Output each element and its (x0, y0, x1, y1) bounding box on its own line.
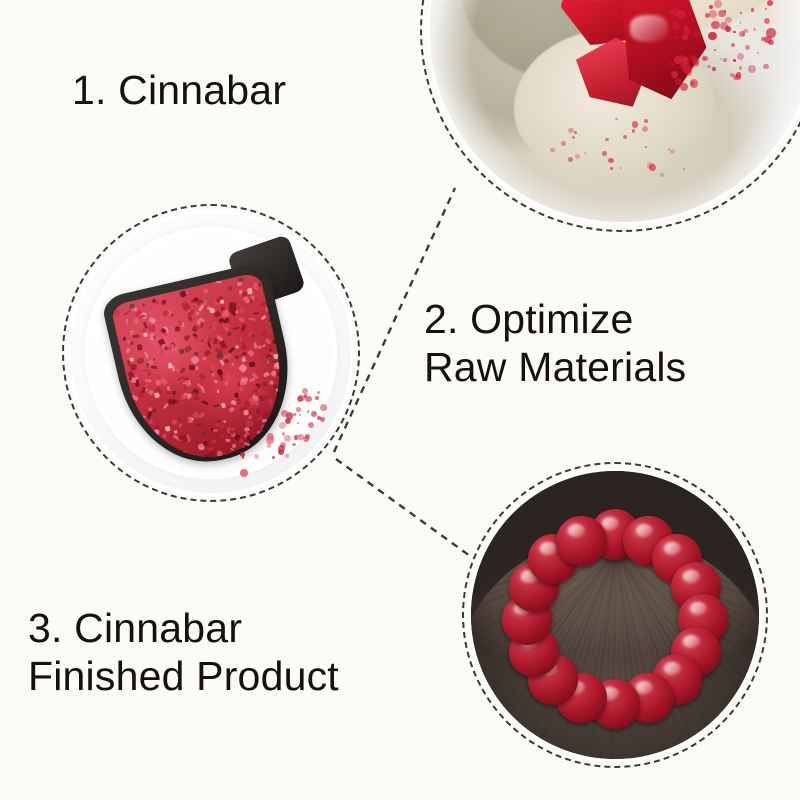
cinnabar-mineral-photo-content (430, 0, 800, 222)
granule-spill (71, 213, 351, 493)
cinnabar-granules-photo-content (71, 213, 351, 493)
step-2-image-node (62, 204, 360, 502)
cinnabar-bracelet-photo-content (471, 471, 759, 759)
step-1-label: 1. Cinnabar (72, 66, 286, 114)
cinnabar-dust-scatter (430, 0, 800, 222)
step-2-label: 2. Optimize Raw Materials (424, 295, 686, 392)
step-1-image-node (420, 0, 800, 232)
cinnabar-granules-photo (71, 213, 351, 493)
cinnabar-bracelet-photo (471, 471, 759, 759)
infographic-canvas: 1. Cinnabar 2. Optimize Raw Materials 3.… (0, 0, 800, 800)
step-3-label: 3. Cinnabar Finished Product (28, 604, 339, 701)
step-3-image-node (462, 462, 768, 768)
cinnabar-bead-bracelet (471, 471, 759, 759)
connector-granules-to-bracelet (336, 459, 470, 556)
cinnabar-mineral-photo (430, 0, 800, 222)
bracelet-bead (556, 516, 606, 566)
